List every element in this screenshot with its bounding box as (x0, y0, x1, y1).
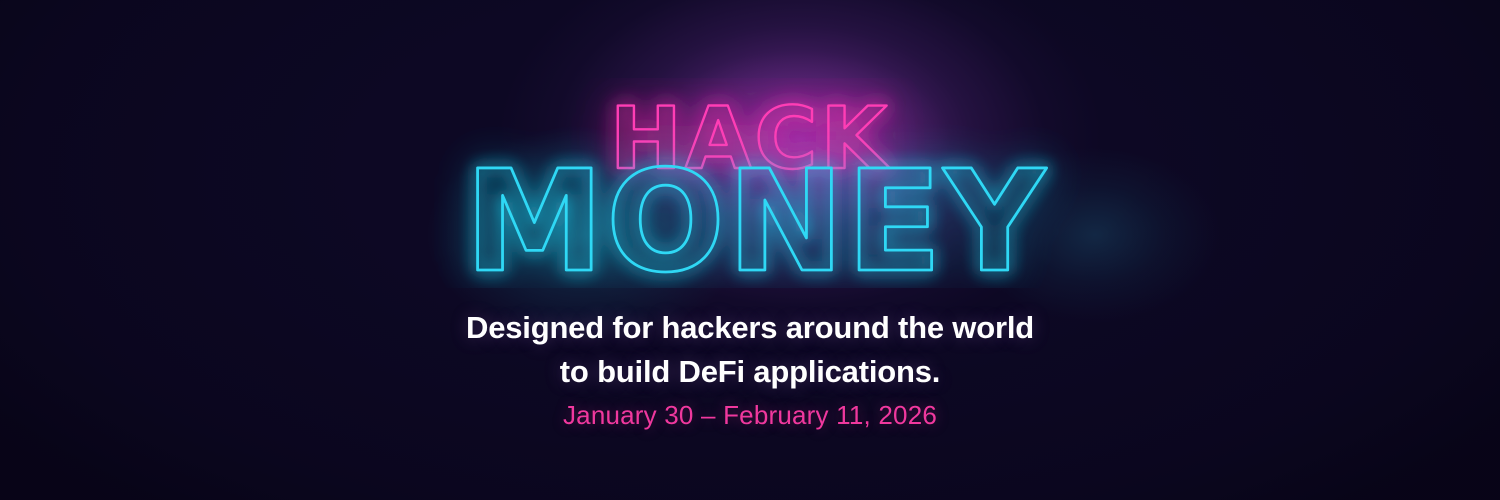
tagline-line-2: to build DeFi applications. (0, 350, 1500, 394)
logo-word-money: MONEY MONEY (465, 141, 1048, 288)
tagline: Designed for hackers around the world to… (0, 306, 1500, 394)
event-dates: January 30 – February 11, 2026 (0, 400, 1500, 431)
neon-logo-svg: HACK HACK MONEY MONEY (0, 78, 1500, 288)
hackmoney-logo: HACK HACK MONEY MONEY (0, 78, 1500, 288)
logo-money-text: MONEY (465, 141, 1048, 288)
tagline-line-1: Designed for hackers around the world (0, 306, 1500, 350)
banner-content: HACK HACK MONEY MONEY Designed for hacke… (0, 0, 1500, 500)
hackmoney-hero-banner: HACK HACK MONEY MONEY Designed for hacke… (0, 0, 1500, 500)
